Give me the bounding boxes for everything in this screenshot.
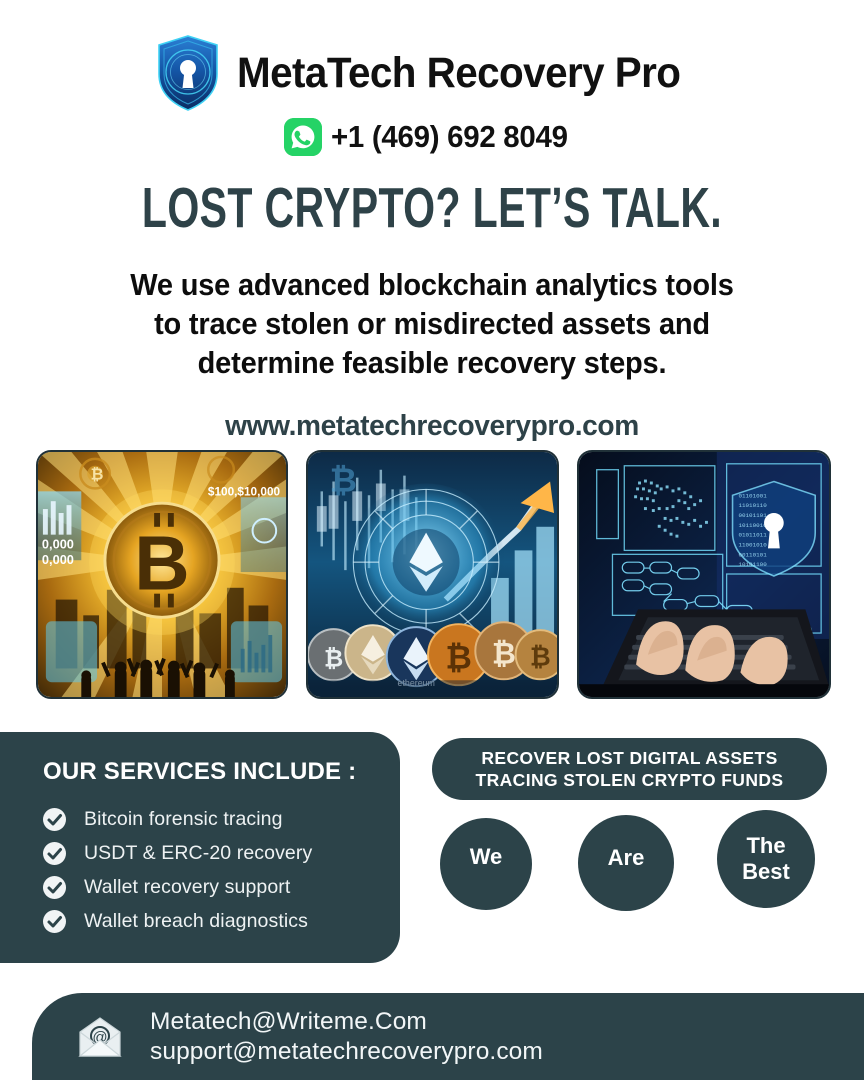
- svg-text:₿: ₿: [445, 639, 471, 675]
- ethereum-chart-coins-image: ₿ ₿ ethereum ₿ ₿ ₿: [306, 450, 559, 699]
- check-circle-icon: [43, 876, 66, 899]
- bitcoin-gold-city-image: B ₿ 0,000 0,000 $100,$10,000: [36, 450, 288, 699]
- cybersecurity-laptop-image: 0110100111010110 0010110110110010 010110…: [577, 450, 831, 699]
- services-list: Bitcoin forensic tracing USDT & ERC-20 r…: [43, 808, 400, 933]
- svg-text:11010110: 11010110: [738, 502, 767, 509]
- svg-text:01101001: 01101001: [738, 492, 767, 499]
- services-panel: OUR SERVICES INCLUDE : Bitcoin forensic …: [0, 732, 400, 963]
- svg-text:10101100: 10101100: [738, 561, 767, 568]
- check-circle-icon: [43, 842, 66, 865]
- svg-text:₿: ₿: [330, 462, 357, 499]
- service-label: Bitcoin forensic tracing: [84, 808, 283, 831]
- header: MetaTech Recovery Pro +1 (469) 692 8049: [0, 34, 864, 156]
- svg-text:0,000: 0,000: [42, 552, 74, 567]
- svg-text:$100,$10,000: $100,$10,000: [208, 484, 281, 498]
- brand-name: MetaTech Recovery Pro: [237, 49, 680, 98]
- list-item: USDT & ERC-20 recovery: [43, 842, 400, 865]
- svg-text:01011011: 01011011: [738, 532, 767, 539]
- we-are-the-best-group: We Are The Best: [432, 815, 832, 915]
- subheadline-line-1: We use advanced blockchain analytics too…: [74, 266, 790, 305]
- list-item: Bitcoin forensic tracing: [43, 808, 400, 831]
- list-item: Wallet recovery support: [43, 876, 400, 899]
- email-support[interactable]: support@metatechrecoverypro.com: [150, 1037, 543, 1066]
- svg-text:00110101: 00110101: [738, 551, 767, 558]
- phone-number[interactable]: +1 (469) 692 8049: [331, 119, 568, 155]
- svg-text:10110010: 10110010: [738, 522, 767, 529]
- whatsapp-icon[interactable]: [284, 118, 322, 156]
- footer-contact-bar: @ Metatech@Writeme.Com support@metatechr…: [32, 993, 864, 1080]
- svg-text:₿: ₿: [492, 638, 516, 671]
- tagline-line-1: RECOVER LOST DIGITAL ASSETS: [481, 747, 777, 769]
- shield-keyhole-icon: [155, 34, 221, 112]
- svg-text:₿: ₿: [91, 466, 104, 484]
- subheadline-line-3: determine feasible recovery steps.: [74, 344, 790, 383]
- phone-row[interactable]: +1 (469) 692 8049: [284, 118, 580, 156]
- svg-text:11001010: 11001010: [738, 541, 767, 548]
- svg-text:₿: ₿: [530, 644, 551, 672]
- email-envelope-icon: @: [76, 1016, 124, 1058]
- email-primary[interactable]: Metatech@Writeme.Com: [150, 1007, 543, 1036]
- check-circle-icon: [43, 910, 66, 933]
- image-card-gallery: B ₿ 0,000 0,000 $100,$10,000: [36, 450, 829, 699]
- tagline-line-2: TRACING STOLEN CRYPTO FUNDS: [476, 769, 784, 791]
- circle-the-best-line-2: Best: [742, 859, 790, 885]
- services-title: OUR SERVICES INCLUDE :: [43, 758, 400, 786]
- svg-text:00101101: 00101101: [738, 512, 767, 519]
- flyer-poster: MetaTech Recovery Pro +1 (469) 692 8049 …: [0, 0, 864, 1080]
- check-circle-icon: [43, 808, 66, 831]
- brand-row: MetaTech Recovery Pro: [155, 34, 709, 112]
- email-group[interactable]: Metatech@Writeme.Com support@metatechrec…: [150, 1007, 543, 1067]
- circle-are: Are: [578, 815, 674, 911]
- list-item: Wallet breach diagnostics: [43, 910, 400, 933]
- service-label: USDT & ERC-20 recovery: [84, 842, 312, 865]
- circle-the-best-line-1: The: [742, 833, 790, 859]
- circle-we: We: [440, 818, 532, 910]
- website-url[interactable]: www.metatechrecoverypro.com: [13, 410, 851, 443]
- svg-text:B: B: [134, 522, 189, 607]
- subheadline-line-2: to trace stolen or misdirected assets an…: [74, 305, 790, 344]
- tagline-banner: RECOVER LOST DIGITAL ASSETS TRACING STOL…: [432, 738, 827, 800]
- svg-text:₿: ₿: [324, 647, 343, 673]
- subheadline: We use advanced blockchain analytics too…: [74, 266, 790, 383]
- svg-text:0,000: 0,000: [42, 536, 74, 551]
- service-label: Wallet recovery support: [84, 876, 290, 899]
- circle-the-best: The Best: [717, 810, 815, 908]
- page-title: LOST CRYPTO? LET’S TALK.: [121, 180, 743, 237]
- service-label: Wallet breach diagnostics: [84, 910, 308, 933]
